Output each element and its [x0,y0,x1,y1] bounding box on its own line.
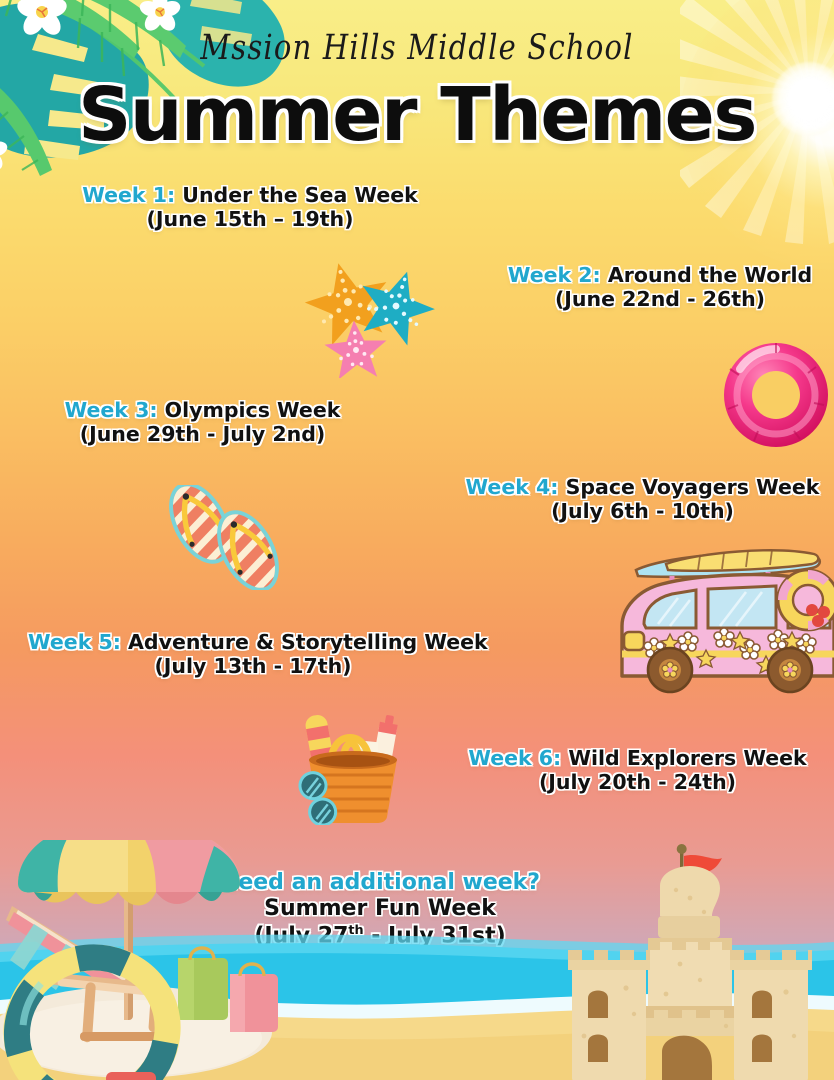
pool-ring-icon [720,335,832,453]
week-4-dates: (July 6th - 10th) [465,499,820,523]
page-title: Summer Themes [0,72,834,158]
week-6-dates: (July 20th - 24th) [460,770,815,794]
week-1-dates: (June 15th – 19th) [70,207,430,231]
school-name: Mssion Hills Middle School [0,27,834,67]
sandcastle-icon [568,844,812,1080]
week-2-title: Week 2: Around the World [500,263,820,287]
week-5-label: Week 5: [28,630,121,654]
week-2-theme: Around the World [601,263,812,287]
beach-umbrella-icon [18,840,240,906]
week-item-3: Week 3: Olympics Week (June 29th - July … [55,398,350,446]
week-1-theme: Under the Sea Week [175,183,418,207]
week-3-label: Week 3: [65,398,158,422]
starfish-icon [300,258,440,378]
week-item-1: Week 1: Under the Sea Week (June 15th – … [70,183,430,231]
week-3-theme: Olympics Week [158,398,341,422]
week-4-label: Week 4: [466,475,559,499]
week-1-label: Week 1: [82,183,175,207]
week-3-dates: (June 29th - July 2nd) [55,422,350,446]
summer-themes-poster: Mssion Hills Middle School Summer Themes [0,0,834,1080]
beach-bag-icon [283,705,423,825]
week-item-6: Week 6: Wild Explorers Week (July 20th -… [460,746,815,794]
week-item-5: Week 5: Adventure & Storytelling Week (J… [28,630,478,678]
week-3-title: Week 3: Olympics Week [55,398,350,422]
week-4-title: Week 4: Space Voyagers Week [465,475,820,499]
week-5-theme: Adventure & Storytelling Week [121,630,488,654]
flip-flops-icon [168,485,286,590]
week-2-label: Week 2: [508,263,601,287]
week-4-theme: Space Voyagers Week [558,475,819,499]
week-item-4: Week 4: Space Voyagers Week (July 6th - … [465,475,820,523]
beach-scene [0,840,834,1080]
week-item-2: Week 2: Around the World (June 22nd - 26… [500,263,820,311]
week-5-dates: (July 13th - 17th) [28,654,478,678]
week-6-label: Week 6: [468,746,561,770]
week-6-theme: Wild Explorers Week [561,746,806,770]
week-6-title: Week 6: Wild Explorers Week [460,746,815,770]
week-1-title: Week 1: Under the Sea Week [70,183,430,207]
camper-van-icon [600,528,834,696]
week-2-dates: (June 22nd - 26th) [500,287,820,311]
week-5-title: Week 5: Adventure & Storytelling Week [28,630,478,654]
